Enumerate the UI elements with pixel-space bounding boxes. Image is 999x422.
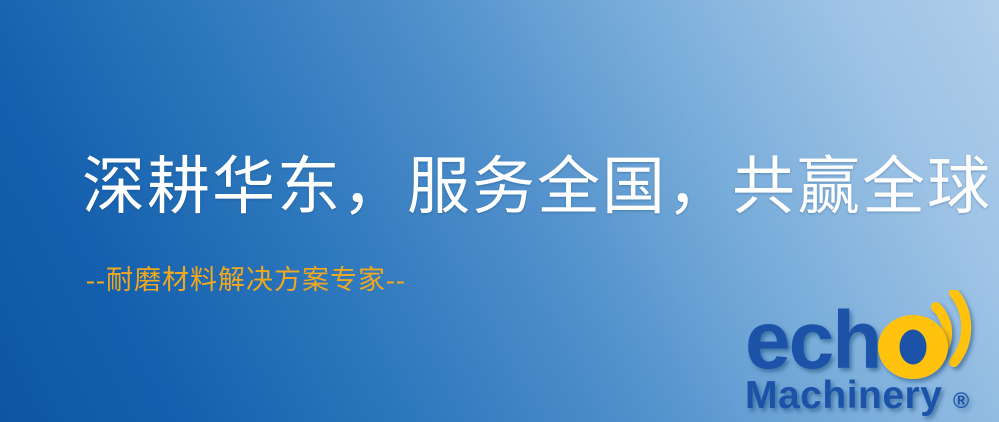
logo-registered-mark: ® (953, 388, 969, 413)
banner-headline: 深耕华东，服务全国，共赢全球 (82, 152, 992, 223)
banner-subtitle: --耐磨材料解决方案专家-- (86, 264, 406, 296)
logo-text-echo: ech (745, 295, 880, 386)
echo-machinery-logo[interactable]: ech Machinery ® (745, 290, 999, 422)
logo-letter-o-gold (878, 315, 948, 379)
hero-banner: 深耕华东，服务全国，共赢全球 --耐磨材料解决方案专家-- ech (0, 0, 999, 422)
echo-arc-outer (954, 293, 966, 362)
banner-content: 深耕华东，服务全国，共赢全球 --耐磨材料解决方案专家-- ech (0, 0, 999, 422)
logo-text-machinery: Machinery (745, 374, 942, 417)
